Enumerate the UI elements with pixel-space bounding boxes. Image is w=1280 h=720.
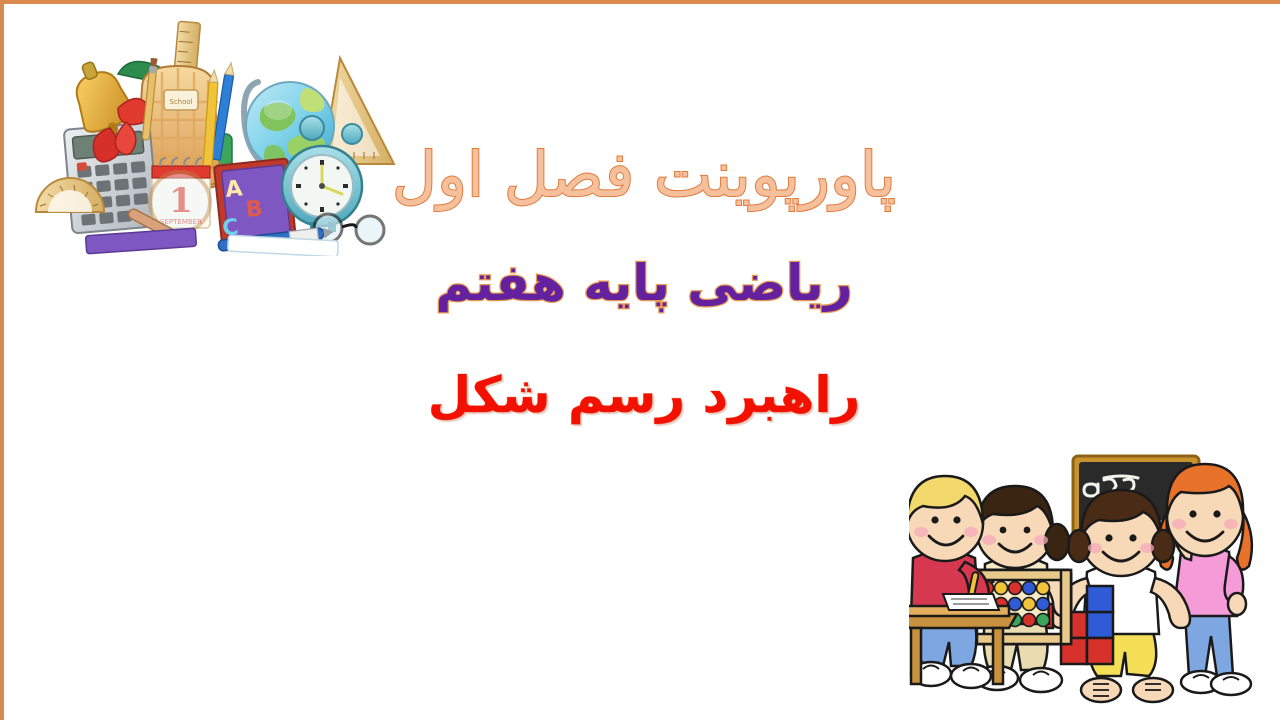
- slide-title-block: پاورپوینت فصل اول ریاضی پایه هفتم راهبرد…: [304, 144, 984, 420]
- svg-text:B: B: [245, 196, 264, 223]
- svg-text:A: A: [224, 176, 244, 203]
- title-line-3: راهبرد رسم شکل: [304, 370, 984, 420]
- presentation-slide: School A B C: [0, 0, 1280, 720]
- svg-text:School: School: [169, 98, 192, 106]
- children-classroom-clipart: [909, 454, 1279, 716]
- title-line-2: ریاضی پایه هفتم: [304, 258, 984, 308]
- red-haired-girl-figure: [1158, 464, 1252, 695]
- title-line-1: پاورپوینت فصل اول: [304, 144, 984, 206]
